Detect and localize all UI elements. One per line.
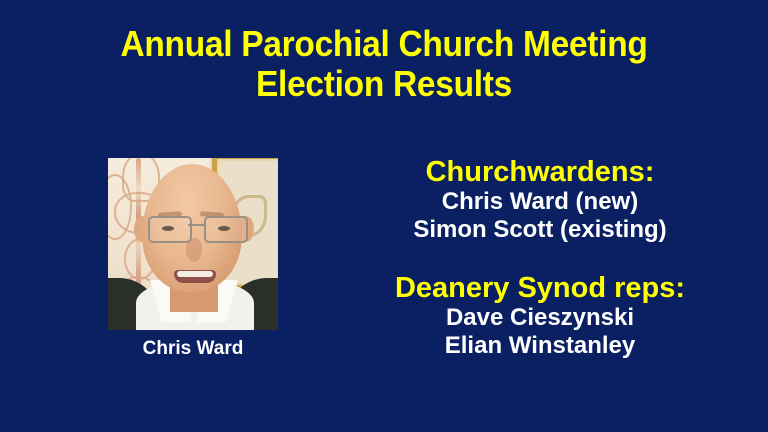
result-group-churchwardens: Churchwardens: Chris Ward (new) Simon Sc… — [340, 156, 740, 244]
teeth — [177, 271, 213, 277]
photo-caption: Chris Ward — [108, 338, 278, 360]
mouth — [174, 270, 216, 283]
lens-left — [148, 216, 192, 243]
group-heading-churchwardens: Churchwardens: — [340, 156, 740, 188]
group-heading-deanery-synod-reps: Deanery Synod reps: — [340, 272, 740, 304]
election-results: Churchwardens: Chris Ward (new) Simon Sc… — [340, 156, 740, 360]
portrait-photo — [108, 158, 278, 330]
photo-block: Chris Ward — [108, 158, 278, 360]
lens-right — [204, 216, 248, 243]
title-line-1: Annual Parochial Church Meeting — [27, 24, 741, 64]
title-line-2: Election Results — [27, 64, 741, 104]
presentation-slide: Annual Parochial Church Meeting Election… — [0, 0, 768, 432]
deanery-synod-rep-name-2: Elian Winstanley — [340, 332, 740, 360]
churchwarden-name-2: Simon Scott (existing) — [340, 216, 740, 244]
result-group-deanery-synod-reps: Deanery Synod reps: Dave Cieszynski Elia… — [340, 272, 740, 360]
eyeglasses-icon — [148, 216, 246, 240]
deanery-synod-rep-name-1: Dave Cieszynski — [340, 304, 740, 332]
glasses-bridge — [188, 224, 204, 226]
nose — [186, 238, 202, 262]
slide-title: Annual Parochial Church Meeting Election… — [0, 24, 768, 104]
churchwarden-name-1: Chris Ward (new) — [340, 188, 740, 216]
